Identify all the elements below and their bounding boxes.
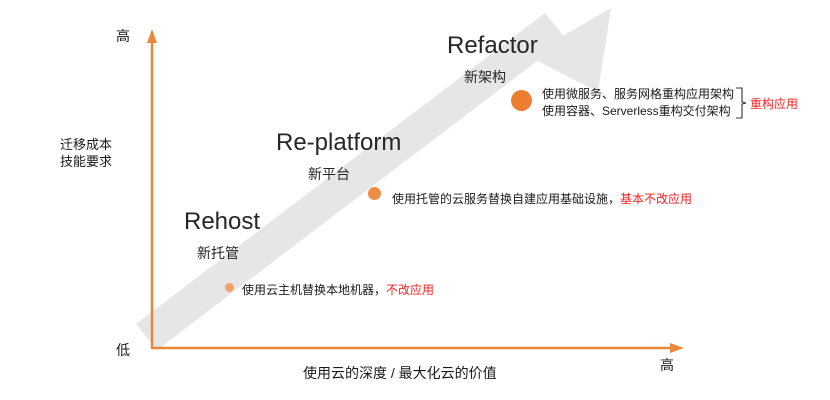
stage-subtitle-replatform: 新平台 <box>308 164 350 184</box>
y-axis-high-label: 高 <box>116 26 130 46</box>
stage-highlight-rehost: 不改应用 <box>386 283 434 297</box>
stage-description-text-rehost: 使用云主机替换本地机器， <box>242 283 386 297</box>
y-axis-title: 迁移成本 技能要求 <box>60 136 112 170</box>
stage-description-replatform: 使用托管的云服务替换自建应用基础设施，基本不改应用 <box>392 190 692 207</box>
stage-title-replatform: Re-platform <box>276 129 401 157</box>
y-axis-title-line1: 迁移成本 <box>60 136 112 153</box>
stage-callout-refactor: 重构应用 <box>750 95 798 112</box>
stage-dot-rehost <box>225 283 234 292</box>
stage-dot-replatform <box>368 187 381 200</box>
curly-brace-icon <box>735 87 747 119</box>
stage-dot-refactor <box>511 90 532 111</box>
stage-description-rehost: 使用云主机替换本地机器，不改应用 <box>242 281 434 298</box>
stage-title-refactor: Refactor <box>447 32 538 60</box>
stage-description-refactor-line2: 使用容器、Serverless重构交付架构 <box>542 103 734 120</box>
stage-subtitle-refactor: 新架构 <box>464 67 506 87</box>
stage-subtitle-rehost: 新托管 <box>197 243 239 263</box>
stage-description-refactor: 使用微服务、服务网格重构应用架构 使用容器、Serverless重构交付架构 <box>542 86 734 120</box>
y-axis-title-line2: 技能要求 <box>60 153 112 170</box>
stage-title-rehost: Rehost <box>184 208 260 236</box>
stage-highlight-replatform: 基本不改应用 <box>620 192 692 206</box>
stage-description-text-replatform: 使用托管的云服务替换自建应用基础设施， <box>392 192 620 206</box>
y-axis-low-label: 低 <box>116 340 130 360</box>
x-axis-title: 使用云的深度 / 最大化云的价值 <box>303 363 497 383</box>
cloud-migration-strategy-diagram: 高 低 高 迁移成本 技能要求 使用云的深度 / 最大化云的价值 Rehost … <box>0 0 830 400</box>
x-axis-high-label: 高 <box>660 355 674 375</box>
stage-description-refactor-line1: 使用微服务、服务网格重构应用架构 <box>542 86 734 103</box>
